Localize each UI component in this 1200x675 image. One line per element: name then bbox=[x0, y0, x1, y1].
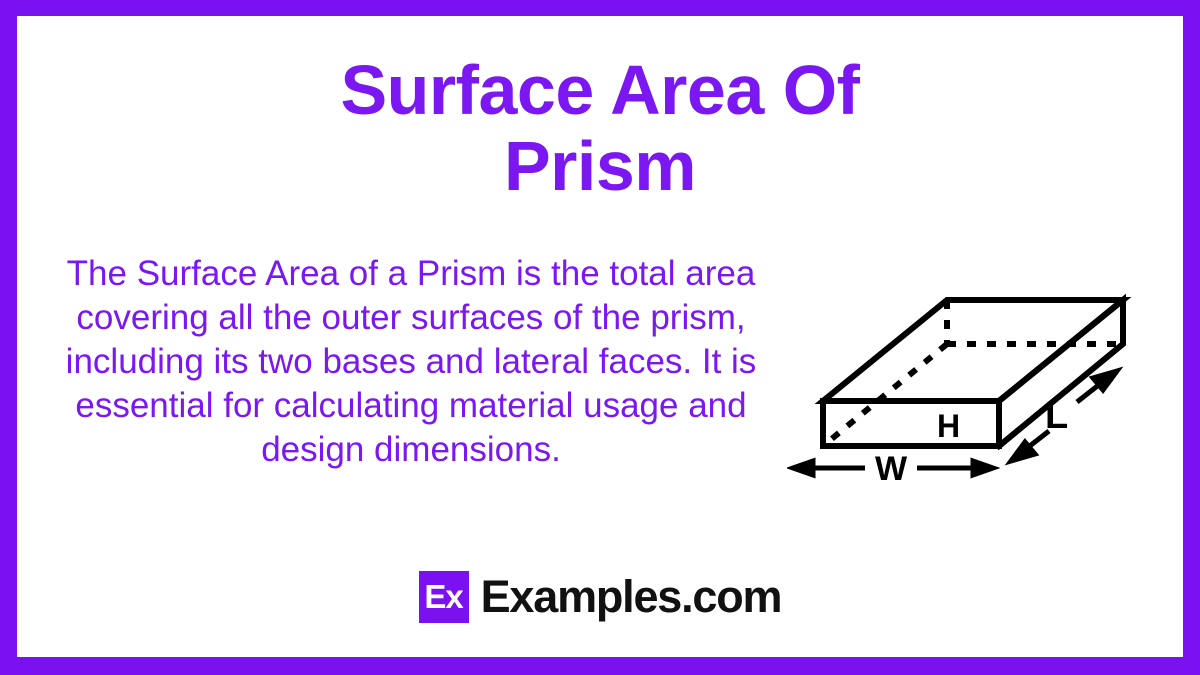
logo-wordmark: Examples.com bbox=[481, 571, 782, 623]
hidden-edge-diagonal bbox=[823, 344, 947, 446]
prism-top-face bbox=[823, 300, 1123, 401]
page-title: Surface Area Of Prism bbox=[17, 52, 1183, 204]
label-length: L bbox=[1045, 395, 1068, 437]
prism-diagram: H W L bbox=[787, 274, 1167, 504]
content-card: Surface Area Of Prism The Surface Area o… bbox=[17, 16, 1183, 657]
logo-mark-icon: Ex bbox=[419, 571, 469, 623]
definition-paragraph: The Surface Area of a Prism is the total… bbox=[61, 252, 761, 472]
page-title-line-2: Prism bbox=[17, 128, 1183, 204]
label-height: H bbox=[937, 408, 960, 444]
prism-hidden-edges bbox=[823, 300, 1123, 446]
brand-logo[interactable]: Ex Examples.com bbox=[17, 571, 1183, 623]
page-title-line-1: Surface Area Of bbox=[17, 52, 1183, 128]
label-width: W bbox=[875, 450, 908, 488]
slide-canvas: Surface Area Of Prism The Surface Area o… bbox=[0, 0, 1200, 675]
